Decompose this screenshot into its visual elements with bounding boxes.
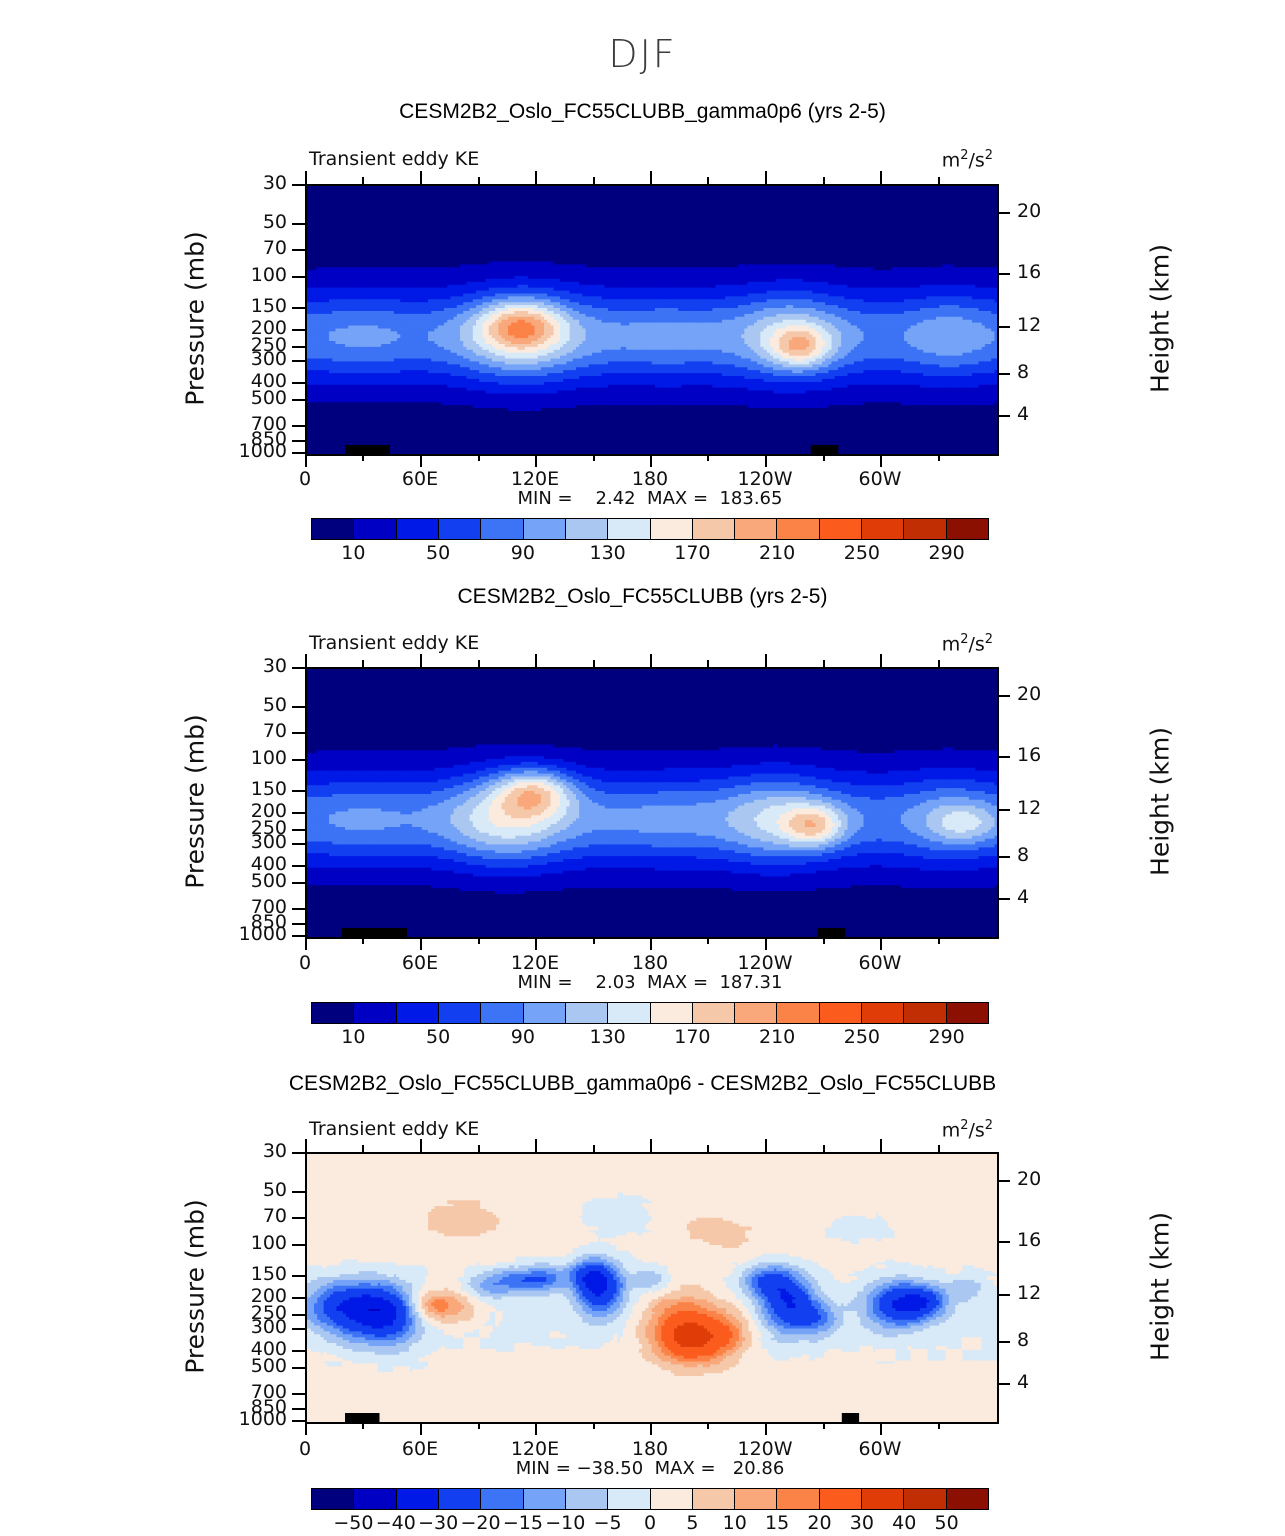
ytick-label-height: 4 xyxy=(1017,888,1067,907)
colorbar-segment xyxy=(820,1489,862,1509)
xtick-minor-bottom xyxy=(938,454,940,461)
xtick-minor-top xyxy=(478,1145,480,1152)
ytick-height xyxy=(997,212,1010,214)
ytick-height xyxy=(997,1341,1010,1343)
colorbar-segment xyxy=(608,1003,650,1023)
colorbar-segment xyxy=(947,1489,988,1509)
ytick-pressure xyxy=(292,1152,305,1154)
ytick-pressure xyxy=(292,882,305,884)
ytick-pressure xyxy=(292,908,305,910)
xtick-major-bottom xyxy=(765,454,767,467)
ytick-label-pressure: 50 xyxy=(221,696,287,715)
xtick-major-bottom xyxy=(535,454,537,467)
panel-1-variable-label: Transient eddy KE xyxy=(309,148,479,170)
xtick-major-bottom xyxy=(765,937,767,950)
colorbar-label: 210 xyxy=(759,542,795,564)
panel-3-units-label: m2/s2 xyxy=(942,1118,993,1141)
colorbar-segment xyxy=(777,519,819,539)
ytick-pressure xyxy=(292,1350,305,1352)
xtick-label: 180 xyxy=(610,1440,690,1459)
ytick-height xyxy=(997,373,1010,375)
panel-3-plot-area[interactable] xyxy=(305,1152,999,1424)
ytick-pressure xyxy=(292,1420,305,1422)
panel-1-colorbar[interactable]: 105090130170210250290 xyxy=(311,518,989,566)
ytick-height xyxy=(997,695,1010,697)
colorbar-segment xyxy=(735,1489,777,1509)
ytick-label-pressure: 300 xyxy=(221,833,287,852)
ytick-label-height: 20 xyxy=(1017,1170,1067,1189)
ytick-pressure xyxy=(292,1191,305,1193)
xtick-major-bottom xyxy=(880,1422,882,1435)
ytick-label-pressure: 30 xyxy=(221,1142,287,1161)
ytick-label-pressure: 30 xyxy=(221,174,287,193)
xtick-label: 120W xyxy=(725,470,805,489)
y-axis-title-pressure: Pressure (mb) xyxy=(181,1187,210,1387)
xtick-minor-top xyxy=(707,660,709,667)
colorbar-segment xyxy=(354,1003,396,1023)
xtick-major-bottom xyxy=(305,1422,307,1435)
xtick-major-bottom xyxy=(305,454,307,467)
xtick-minor-top xyxy=(707,1145,709,1152)
ytick-label-pressure: 500 xyxy=(221,389,287,408)
xtick-minor-bottom xyxy=(593,937,595,944)
xtick-minor-top xyxy=(823,1145,825,1152)
ytick-label-pressure: 30 xyxy=(221,657,287,676)
ytick-pressure xyxy=(292,1393,305,1395)
xtick-major-bottom xyxy=(420,454,422,467)
xtick-minor-top xyxy=(478,177,480,184)
ytick-height xyxy=(997,898,1010,900)
colorbar-segment xyxy=(566,1003,608,1023)
xtick-minor-bottom xyxy=(362,1422,364,1429)
panel-3-variable-label: Transient eddy KE xyxy=(309,1118,479,1140)
page-title: DJF xyxy=(0,32,1285,76)
colorbar-segment xyxy=(693,1489,735,1509)
ytick-label-pressure: 1000 xyxy=(221,925,287,944)
colorbar-strip xyxy=(311,518,989,540)
xtick-major-top xyxy=(535,654,537,667)
xtick-major-top xyxy=(305,654,307,667)
ytick-pressure xyxy=(292,329,305,331)
ytick-pressure xyxy=(292,843,305,845)
ytick-height xyxy=(997,415,1010,417)
colorbar-label: 50 xyxy=(426,1026,450,1048)
colorbar-segment xyxy=(651,1003,693,1023)
colorbar-segment xyxy=(904,1003,946,1023)
ytick-pressure xyxy=(292,706,305,708)
ytick-label-height: 8 xyxy=(1017,846,1067,865)
xtick-label: 180 xyxy=(610,470,690,489)
xtick-label: 60W xyxy=(840,470,920,489)
xtick-major-bottom xyxy=(305,937,307,950)
xtick-minor-bottom xyxy=(823,1422,825,1429)
xtick-minor-top xyxy=(478,660,480,667)
xtick-label: 60W xyxy=(840,1440,920,1459)
xtick-minor-bottom xyxy=(707,454,709,461)
colorbar-segment xyxy=(904,519,946,539)
ytick-pressure xyxy=(292,1314,305,1316)
ytick-label-height: 4 xyxy=(1017,405,1067,424)
xtick-label: 0 xyxy=(265,470,345,489)
xtick-minor-bottom xyxy=(707,1422,709,1429)
xtick-label: 60E xyxy=(380,470,460,489)
xtick-major-top xyxy=(650,654,652,667)
panel-1-title: CESM2B2_Oslo_FC55CLUBB_gamma0p6 (yrs 2-5… xyxy=(0,100,1285,124)
ytick-pressure xyxy=(292,1328,305,1330)
ytick-pressure xyxy=(292,923,305,925)
ytick-height xyxy=(997,326,1010,328)
xtick-minor-bottom xyxy=(823,937,825,944)
ytick-pressure xyxy=(292,223,305,225)
panel-1-minmax: MIN = 2.42 MAX = 183.65 xyxy=(305,488,995,509)
colorbar-segment xyxy=(524,1489,566,1509)
ytick-pressure xyxy=(292,1408,305,1410)
xtick-minor-bottom xyxy=(707,937,709,944)
ytick-pressure xyxy=(292,360,305,362)
ytick-label-height: 8 xyxy=(1017,1331,1067,1350)
colorbar-label: 210 xyxy=(759,1026,795,1048)
ytick-pressure xyxy=(292,865,305,867)
xtick-label: 60E xyxy=(380,1440,460,1459)
topography-mask xyxy=(307,669,997,937)
colorbar-label: 10 xyxy=(341,542,365,564)
colorbar-strip xyxy=(311,1002,989,1024)
ytick-height xyxy=(997,856,1010,858)
ytick-pressure xyxy=(292,812,305,814)
colorbar-segment xyxy=(947,1003,988,1023)
xtick-minor-top xyxy=(362,177,364,184)
xtick-label: 60E xyxy=(380,954,460,973)
ytick-label-pressure: 70 xyxy=(221,239,287,258)
colorbar-segment xyxy=(439,1003,481,1023)
y-axis-title-height: Height (km) xyxy=(1146,219,1175,419)
ytick-height xyxy=(997,809,1010,811)
colorbar-segment xyxy=(947,519,988,539)
ytick-height xyxy=(997,1294,1010,1296)
colorbar-segment xyxy=(608,1489,650,1509)
panel-3-header: Transient eddy KEm2/s2 xyxy=(305,1118,995,1140)
colorbar-label-row: −50−40−30−20−15−10−505101520304050 xyxy=(311,1512,989,1536)
xtick-major-bottom xyxy=(765,1422,767,1435)
colorbar-segment xyxy=(651,1489,693,1509)
ytick-label-height: 12 xyxy=(1017,799,1067,818)
ytick-pressure xyxy=(292,1275,305,1277)
ytick-label-pressure: 100 xyxy=(221,1234,287,1253)
colorbar-segment xyxy=(566,519,608,539)
ytick-label-height: 4 xyxy=(1017,1373,1067,1392)
xtick-major-top xyxy=(420,1139,422,1152)
ytick-label-height: 16 xyxy=(1017,746,1067,765)
xtick-major-top xyxy=(305,171,307,184)
xtick-major-bottom xyxy=(880,454,882,467)
ytick-pressure xyxy=(292,667,305,669)
ytick-label-pressure: 300 xyxy=(221,1318,287,1337)
xtick-major-top xyxy=(880,654,882,667)
panel-2-header: Transient eddy KEm2/s2 xyxy=(305,632,995,654)
colorbar-segment xyxy=(312,1489,354,1509)
xtick-minor-bottom xyxy=(478,1422,480,1429)
colorbar-segment xyxy=(354,1489,396,1509)
ytick-label-pressure: 70 xyxy=(221,1207,287,1226)
colorbar-segment xyxy=(397,1003,439,1023)
xtick-minor-bottom xyxy=(593,1422,595,1429)
colorbar-label: 170 xyxy=(674,542,710,564)
xtick-major-bottom xyxy=(420,1422,422,1435)
ytick-pressure xyxy=(292,382,305,384)
xtick-major-top xyxy=(650,1139,652,1152)
colorbar-segment xyxy=(608,519,650,539)
y-axis-title-pressure: Pressure (mb) xyxy=(181,219,210,419)
y-axis-title-height: Height (km) xyxy=(1146,702,1175,902)
colorbar-label-row: 105090130170210250290 xyxy=(311,542,989,566)
colorbar-segment xyxy=(777,1003,819,1023)
xtick-label: 0 xyxy=(265,954,345,973)
colorbar-segment xyxy=(397,519,439,539)
ytick-pressure xyxy=(292,440,305,442)
colorbar-segment xyxy=(481,1489,523,1509)
ytick-height xyxy=(997,1241,1010,1243)
xtick-minor-bottom xyxy=(478,937,480,944)
xtick-major-top xyxy=(305,1139,307,1152)
ytick-height xyxy=(997,1180,1010,1182)
xtick-minor-bottom xyxy=(362,937,364,944)
xtick-minor-top xyxy=(707,177,709,184)
colorbar-segment xyxy=(862,1003,904,1023)
panel-1-units-label: m2/s2 xyxy=(942,148,993,171)
colorbar-segment xyxy=(481,519,523,539)
ytick-pressure xyxy=(292,790,305,792)
colorbar-label: 90 xyxy=(511,542,535,564)
colorbar-segment xyxy=(481,1003,523,1023)
colorbar-segment xyxy=(312,1003,354,1023)
xtick-major-bottom xyxy=(650,454,652,467)
xtick-major-bottom xyxy=(880,937,882,950)
ytick-label-height: 16 xyxy=(1017,263,1067,282)
xtick-label: 180 xyxy=(610,954,690,973)
xtick-major-top xyxy=(880,171,882,184)
xtick-minor-top xyxy=(938,660,940,667)
xtick-label: 0 xyxy=(265,1440,345,1459)
colorbar-segment xyxy=(354,519,396,539)
colorbar-label: 250 xyxy=(844,1026,880,1048)
xtick-major-top xyxy=(535,171,537,184)
ytick-pressure xyxy=(292,1217,305,1219)
colorbar-label: 290 xyxy=(928,1026,964,1048)
ytick-pressure xyxy=(292,1244,305,1246)
panel-1-plot-area[interactable] xyxy=(305,184,999,456)
y-axis-title-pressure: Pressure (mb) xyxy=(181,702,210,902)
xtick-minor-top xyxy=(823,177,825,184)
ytick-label-pressure: 100 xyxy=(221,749,287,768)
panel-3-colorbar[interactable]: −50−40−30−20−15−10−505101520304050 xyxy=(311,1488,989,1536)
colorbar-segment xyxy=(312,519,354,539)
colorbar-segment xyxy=(735,519,777,539)
ytick-height xyxy=(997,756,1010,758)
colorbar-label: 170 xyxy=(674,1026,710,1048)
xtick-minor-top xyxy=(938,177,940,184)
xtick-minor-bottom xyxy=(478,454,480,461)
colorbar-label: 250 xyxy=(844,542,880,564)
colorbar-segment xyxy=(524,1003,566,1023)
xtick-label: 120W xyxy=(725,1440,805,1459)
y-axis-title-height: Height (km) xyxy=(1146,1187,1175,1387)
xtick-label: 120E xyxy=(495,954,575,973)
ytick-pressure xyxy=(292,935,305,937)
xtick-minor-top xyxy=(593,177,595,184)
xtick-major-top xyxy=(765,654,767,667)
ytick-label-height: 20 xyxy=(1017,685,1067,704)
ytick-label-height: 8 xyxy=(1017,363,1067,382)
ytick-pressure xyxy=(292,452,305,454)
panel-3-minmax: MIN = −38.50 MAX = 20.86 xyxy=(305,1458,995,1479)
colorbar-segment xyxy=(904,1489,946,1509)
ytick-pressure xyxy=(292,732,305,734)
xtick-major-bottom xyxy=(420,937,422,950)
ytick-label-height: 16 xyxy=(1017,1231,1067,1250)
ytick-pressure xyxy=(292,1297,305,1299)
panel-1-header: Transient eddy KEm2/s2 xyxy=(305,148,995,170)
xtick-major-top xyxy=(535,1139,537,1152)
ytick-label-pressure: 500 xyxy=(221,872,287,891)
panel-2-plot-area[interactable] xyxy=(305,667,999,939)
ytick-height xyxy=(997,1383,1010,1385)
ytick-label-pressure: 1000 xyxy=(221,1410,287,1429)
colorbar-segment xyxy=(862,1489,904,1509)
panel-2-colorbar[interactable]: 105090130170210250290 xyxy=(311,1002,989,1050)
xtick-major-top xyxy=(420,171,422,184)
ytick-label-pressure: 1000 xyxy=(221,442,287,461)
colorbar-label: 10 xyxy=(341,1026,365,1048)
colorbar-segment xyxy=(439,519,481,539)
xtick-minor-top xyxy=(593,1145,595,1152)
xtick-label: 120W xyxy=(725,954,805,973)
xtick-minor-bottom xyxy=(362,454,364,461)
colorbar-label-row: 105090130170210250290 xyxy=(311,1026,989,1050)
ytick-pressure xyxy=(292,399,305,401)
ytick-pressure xyxy=(292,829,305,831)
ytick-label-pressure: 500 xyxy=(221,1357,287,1376)
ytick-label-pressure: 100 xyxy=(221,266,287,285)
xtick-minor-top xyxy=(938,1145,940,1152)
colorbar-label: 290 xyxy=(928,542,964,564)
ytick-label-height: 12 xyxy=(1017,1284,1067,1303)
xtick-minor-bottom xyxy=(593,454,595,461)
colorbar-segment xyxy=(693,519,735,539)
panel-2-variable-label: Transient eddy KE xyxy=(309,632,479,654)
colorbar-segment xyxy=(820,519,862,539)
colorbar-segment xyxy=(524,519,566,539)
xtick-major-bottom xyxy=(535,1422,537,1435)
ytick-label-height: 20 xyxy=(1017,202,1067,221)
xtick-major-top xyxy=(765,1139,767,1152)
colorbar-segment xyxy=(566,1489,608,1509)
ytick-pressure xyxy=(292,276,305,278)
colorbar-segment xyxy=(735,1003,777,1023)
xtick-label: 120E xyxy=(495,470,575,489)
colorbar-segment xyxy=(651,519,693,539)
ytick-label-pressure: 70 xyxy=(221,722,287,741)
panel-2-minmax: MIN = 2.03 MAX = 187.31 xyxy=(305,972,995,993)
colorbar-segment xyxy=(820,1003,862,1023)
xtick-major-bottom xyxy=(535,937,537,950)
panel-2-units-label: m2/s2 xyxy=(942,632,993,655)
colorbar-segment xyxy=(397,1489,439,1509)
colorbar-segment xyxy=(862,519,904,539)
ytick-label-pressure: 150 xyxy=(221,1265,287,1284)
panel-2-title: CESM2B2_Oslo_FC55CLUBB (yrs 2-5) xyxy=(0,585,1285,609)
xtick-minor-top xyxy=(362,660,364,667)
ytick-pressure xyxy=(292,1367,305,1369)
colorbar-label: 130 xyxy=(589,542,625,564)
xtick-label: 120E xyxy=(495,1440,575,1459)
xtick-major-top xyxy=(650,171,652,184)
xtick-minor-bottom xyxy=(938,1422,940,1429)
xtick-major-bottom xyxy=(650,1422,652,1435)
ytick-label-pressure: 50 xyxy=(221,213,287,232)
colorbar-segment xyxy=(439,1489,481,1509)
ytick-pressure xyxy=(292,249,305,251)
ytick-label-pressure: 150 xyxy=(221,297,287,316)
ytick-pressure xyxy=(292,425,305,427)
topography-mask xyxy=(307,186,997,454)
colorbar-label: 130 xyxy=(589,1026,625,1048)
colorbar-label: 50 xyxy=(426,542,450,564)
ytick-pressure xyxy=(292,184,305,186)
xtick-major-bottom xyxy=(650,937,652,950)
colorbar-segment xyxy=(693,1003,735,1023)
ytick-label-pressure: 300 xyxy=(221,350,287,369)
colorbar-label: 90 xyxy=(511,1026,535,1048)
xtick-major-top xyxy=(880,1139,882,1152)
ytick-label-pressure: 150 xyxy=(221,780,287,799)
xtick-minor-bottom xyxy=(938,937,940,944)
ytick-pressure xyxy=(292,759,305,761)
ytick-pressure xyxy=(292,307,305,309)
topography-mask xyxy=(307,1154,997,1422)
panel-3-title: CESM2B2_Oslo_FC55CLUBB_gamma0p6 - CESM2B… xyxy=(0,1072,1285,1096)
xtick-minor-bottom xyxy=(823,454,825,461)
ytick-label-pressure: 50 xyxy=(221,1181,287,1200)
xtick-label: 60W xyxy=(840,954,920,973)
xtick-minor-top xyxy=(362,1145,364,1152)
xtick-major-top xyxy=(765,171,767,184)
colorbar-strip xyxy=(311,1488,989,1510)
xtick-major-top xyxy=(420,654,422,667)
xtick-minor-top xyxy=(593,660,595,667)
xtick-minor-top xyxy=(823,660,825,667)
ytick-pressure xyxy=(292,346,305,348)
colorbar-segment xyxy=(777,1489,819,1509)
ytick-label-height: 12 xyxy=(1017,316,1067,335)
ytick-height xyxy=(997,273,1010,275)
